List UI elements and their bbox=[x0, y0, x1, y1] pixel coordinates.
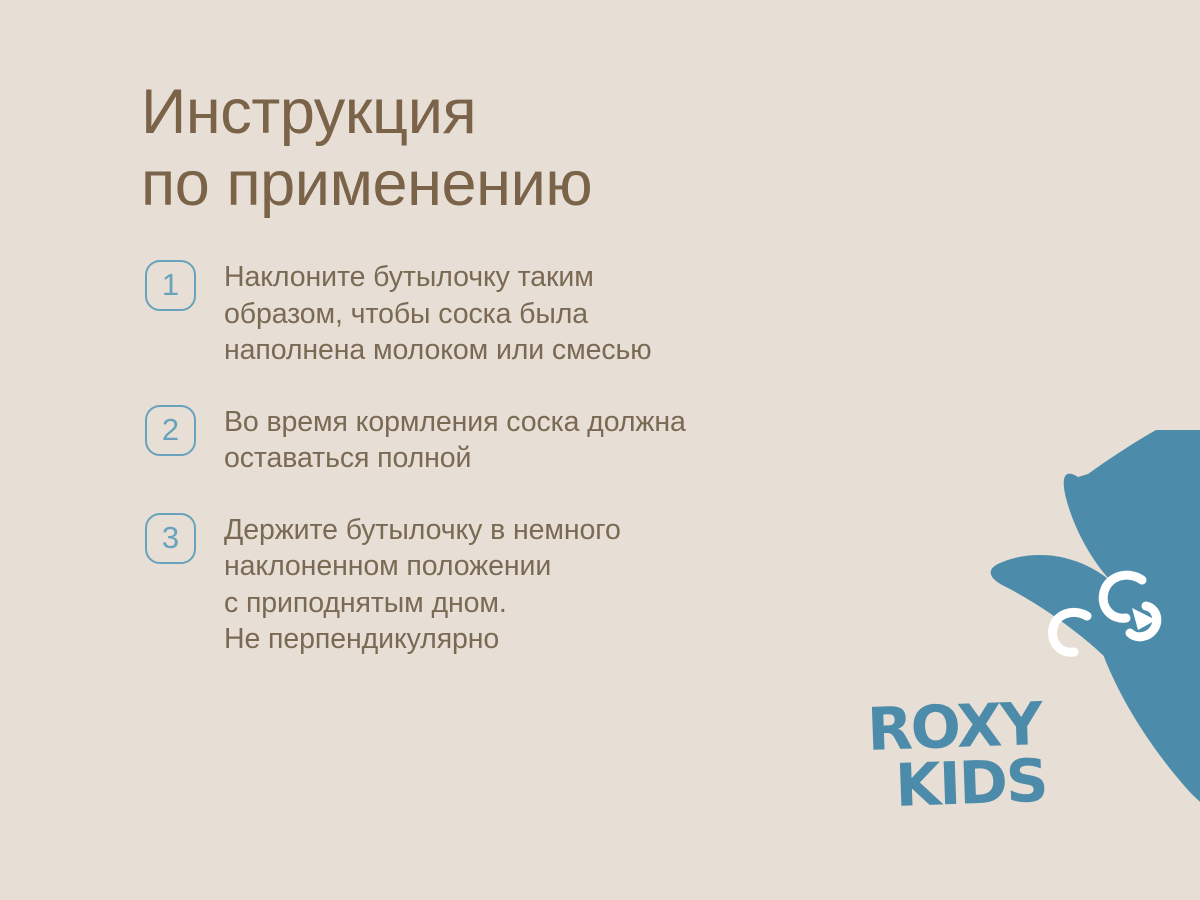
page-title: Инструкция по применению bbox=[141, 76, 961, 220]
logo-line-2: KIDS bbox=[894, 746, 1047, 820]
instruction-slide: Инструкция по применению 1 Наклоните бут… bbox=[0, 0, 1200, 900]
bunny-nose-icon bbox=[1132, 608, 1156, 630]
step-number-badge-1: 1 bbox=[145, 260, 196, 311]
bunny-mouth-icon bbox=[1130, 606, 1157, 637]
bunny-eye-right-icon bbox=[1053, 612, 1087, 652]
instruction-steps-list: 1 Наклоните бутылочку таким образом, что… bbox=[145, 258, 905, 658]
bunny-face-markings bbox=[1053, 575, 1157, 652]
step-number-badge-2: 2 bbox=[145, 405, 196, 456]
brand-logo: ROXY KIDS bbox=[868, 694, 1088, 819]
step-text-1: Наклоните бутылочку таким образом, чтобы… bbox=[224, 258, 652, 369]
list-item: 3 Держите бутылочку в немного наклоненно… bbox=[145, 511, 905, 658]
step-text-3: Держите бутылочку в немного наклоненном … bbox=[224, 511, 621, 658]
roxy-kids-logo-icon: ROXY KIDS bbox=[868, 694, 1088, 819]
step-number-badge-3: 3 bbox=[145, 513, 196, 564]
step-text-2: Во время кормления соска должна оставать… bbox=[224, 403, 686, 477]
bunny-eye-left-icon bbox=[1103, 575, 1142, 618]
list-item: 1 Наклоните бутылочку таким образом, что… bbox=[145, 258, 905, 369]
list-item: 2 Во время кормления соска должна остава… bbox=[145, 403, 905, 477]
